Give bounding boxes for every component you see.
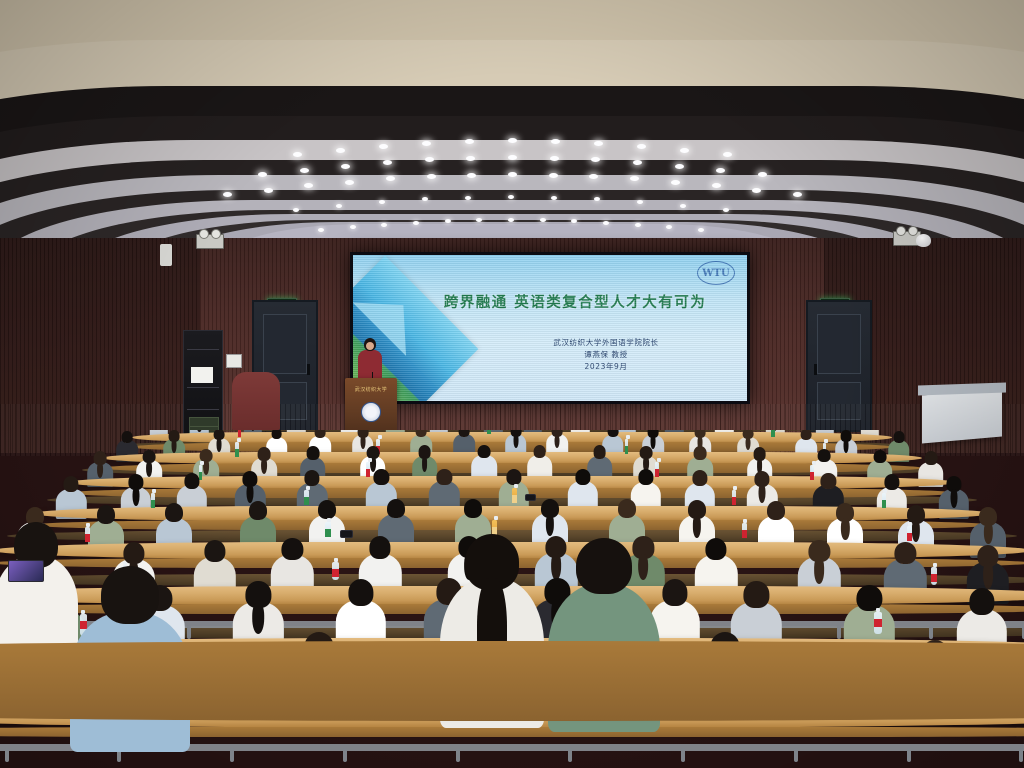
person-head: [801, 430, 812, 440]
chair-leg: [837, 625, 841, 639]
water-bottle: [151, 493, 156, 506]
person-head: [884, 474, 899, 490]
ceiling-spotlight: [293, 208, 299, 212]
person-ponytail: [950, 489, 957, 508]
person-head: [821, 473, 836, 489]
chair-leg: [343, 748, 347, 762]
ceiling-spotlight: [698, 228, 704, 232]
door-panel: [817, 314, 861, 374]
person-head: [374, 469, 389, 485]
person-head: [706, 538, 727, 560]
person-head: [165, 503, 183, 522]
ceiling-spotlight: [223, 192, 232, 197]
rack-shelf: [187, 387, 219, 388]
ceiling-spotlight: [549, 173, 558, 178]
slide-subtitle-line: 武汉纺织大学外国语学院院长: [471, 337, 741, 349]
ceiling-spotlight: [345, 180, 354, 185]
emergency-light: [196, 234, 224, 249]
ceiling-spotlight: [675, 164, 684, 169]
person-ponytail: [132, 487, 139, 506]
ceiling-spotlight: [508, 218, 514, 222]
water-bottle: [931, 567, 937, 585]
person-head: [97, 505, 115, 524]
smartphone-recording: [8, 560, 44, 582]
water-bottle: [238, 430, 242, 432]
person-ponytail: [253, 603, 265, 634]
person-head: [744, 581, 769, 607]
lecture-hall-photo: 安全出口 安全出口 WTU 跨界融通 英语类复合型人才大有可为 武汉纺织大学外国…: [0, 0, 1024, 768]
bottle-label: [625, 446, 629, 454]
ceiling-spotlight: [336, 204, 342, 208]
slide-subtitle-line: 2023年9月: [471, 361, 741, 373]
bottle-label: [238, 430, 242, 437]
bottle-label: [151, 500, 156, 508]
person-head: [873, 450, 886, 463]
person-head: [315, 430, 326, 438]
water-bottle: [874, 612, 881, 633]
person-head: [575, 469, 590, 485]
person-ponytail: [759, 484, 766, 503]
bottle-label: [512, 495, 517, 503]
ceiling-spotlight: [413, 221, 419, 225]
chair-leg: [230, 748, 234, 762]
ceiling-spotlight: [467, 173, 476, 178]
water-bottle: [85, 527, 90, 542]
ceiling-spotlight: [637, 144, 646, 149]
rack-shelf: [187, 349, 219, 350]
person-head: [305, 470, 320, 486]
water-bottle: [742, 523, 747, 538]
water-bottle: [512, 488, 517, 501]
university-seal-icon: WTU: [697, 261, 735, 285]
person-head: [271, 430, 282, 439]
ceiling-spotlight: [318, 228, 324, 232]
water-bottle: [235, 442, 239, 452]
water-bottle: [907, 526, 912, 541]
ceiling-spotlight: [258, 172, 267, 177]
person-head: [306, 446, 319, 459]
rack-shelf: [187, 409, 219, 410]
ceiling-spotlight: [466, 156, 475, 161]
person-head: [692, 470, 707, 486]
person-head: [593, 445, 606, 458]
person-head: [924, 451, 937, 464]
water-bottle: [332, 562, 338, 580]
ceiling-spotlight: [341, 164, 350, 169]
water-bottle: [625, 439, 629, 449]
person-head: [184, 473, 199, 489]
person-head: [64, 476, 79, 492]
dome-camera-icon: [916, 234, 931, 247]
ceiling-spotlight: [383, 160, 392, 165]
person-head: [857, 585, 882, 611]
bottle-label: [325, 529, 330, 537]
slide-title: 跨界融通 英语类复合型人才大有可为: [405, 291, 745, 312]
wall-speaker: [160, 244, 172, 266]
ceiling-spotlight: [427, 174, 436, 179]
ceiling-spotlight: [508, 172, 517, 177]
ceiling-spotlight: [594, 141, 603, 146]
person-head: [893, 431, 904, 442]
person-head: [478, 445, 491, 458]
water-bottle: [882, 493, 887, 506]
bottle-label: [235, 449, 239, 457]
person-head: [618, 499, 636, 518]
ceiling: [0, 0, 1024, 250]
audience-seating: [0, 430, 1024, 768]
person-head: [464, 499, 482, 518]
person-head: [576, 538, 632, 594]
person-head: [969, 588, 994, 614]
person-head: [204, 540, 225, 562]
door-handle[interactable]: [307, 364, 310, 375]
person-head: [895, 542, 916, 564]
ceiling-spotlight: [671, 180, 680, 185]
podium-name-plate: 武汉纺织大学: [345, 386, 397, 393]
ceiling-spotlight: [551, 196, 557, 200]
slide-subtitle: 武汉纺织大学外国语学院院长 谭燕保 教授 2023年9月: [471, 337, 741, 373]
person-head: [437, 469, 452, 485]
ceiling-spotlight: [793, 192, 802, 197]
person-head: [818, 449, 831, 462]
ceiling-spotlight: [680, 204, 686, 208]
ceiling-spotlight: [551, 139, 560, 144]
ceiling-spotlight: [293, 152, 302, 157]
ceiling-spotlight: [264, 188, 273, 193]
ceiling-spotlight: [300, 168, 309, 173]
ceiling-spotlight: [758, 172, 767, 177]
chair-leg: [568, 748, 572, 762]
bottle-label: [931, 574, 937, 582]
person-head: [662, 579, 687, 605]
person-ponytail: [422, 456, 428, 472]
person-head: [318, 500, 336, 519]
person-head: [694, 446, 707, 459]
person-head: [506, 469, 521, 485]
ceiling-spotlight: [603, 221, 609, 225]
wall-control-box: [226, 354, 242, 368]
bottle-label: [332, 569, 338, 577]
equipment-rack: [183, 330, 223, 438]
chair-leg: [794, 748, 798, 762]
ceiling-spotlight: [379, 144, 388, 149]
slide-content: WTU 跨界融通 英语类复合型人才大有可为 武汉纺织大学外国语学院院长 谭燕保 …: [353, 255, 747, 401]
bottle-label: [487, 430, 491, 434]
chair-leg: [5, 748, 9, 762]
ceiling-spotlight: [508, 195, 514, 199]
ceiling-spotlight: [635, 223, 641, 227]
person-head: [533, 445, 546, 458]
ceiling-spotlight: [633, 160, 642, 165]
ceiling-spotlight: [465, 139, 474, 144]
person-head: [387, 499, 405, 518]
bottle-label: [874, 619, 881, 627]
person-head: [639, 469, 654, 485]
person-ponytail: [97, 462, 103, 478]
desk-row: [102, 452, 922, 464]
person-ponytail: [983, 562, 993, 588]
water-bottle: [732, 490, 737, 503]
water-bottle: [771, 430, 775, 432]
side-table: [232, 372, 280, 430]
desk-row-foreground: [0, 666, 1024, 712]
slide-subtitle-line: 谭燕保 教授: [471, 349, 741, 361]
ceiling-spotlight: [550, 156, 559, 161]
desk-front-panel: [0, 641, 1024, 721]
person-head: [767, 501, 785, 520]
ceiling-spotlight: [716, 168, 725, 173]
bottle-label: [771, 430, 775, 437]
door-handle[interactable]: [814, 364, 817, 375]
smartphone: [340, 530, 353, 538]
chair-leg: [907, 748, 911, 762]
ceiling-spotlight: [336, 148, 345, 153]
rack-paper-sign: [191, 367, 213, 383]
person-ponytail: [815, 557, 825, 583]
person-head: [249, 501, 267, 520]
ceiling-spotlight: [465, 196, 471, 200]
ceiling-spotlight: [680, 148, 689, 153]
speaker-face: [366, 342, 374, 350]
person-head: [348, 579, 373, 605]
chair-leg: [1019, 748, 1023, 762]
chair-leg: [929, 625, 933, 639]
bottle-label: [85, 534, 90, 542]
chair-leg: [456, 748, 460, 762]
water-bottle: [325, 522, 330, 537]
ceiling-spotlight: [723, 208, 729, 212]
person-head: [282, 538, 303, 560]
ceiling-spotlight: [723, 152, 732, 157]
podium-emblem-icon: [361, 402, 381, 422]
person-head: [101, 566, 159, 624]
person-head: [370, 536, 391, 558]
ceiling-spotlight: [422, 141, 431, 146]
bottle-label: [882, 500, 887, 508]
door-panel: [263, 314, 307, 374]
bottle-label: [732, 497, 737, 505]
person-ponytail: [247, 484, 254, 503]
ceiling-spotlight: [752, 188, 761, 193]
bottle-label: [304, 497, 309, 505]
projection-screen: WTU 跨界融通 英语类复合型人才大有可为 武汉纺织大学外国语学院院长 谭燕保 …: [350, 252, 750, 404]
bottle-label: [742, 530, 747, 538]
chair-leg: [681, 748, 685, 762]
ceiling-spotlight: [508, 155, 517, 160]
water-bottle: [304, 490, 309, 503]
ceiling-spotlight: [508, 138, 517, 143]
bottle-label: [907, 533, 912, 541]
person-head: [122, 431, 133, 442]
